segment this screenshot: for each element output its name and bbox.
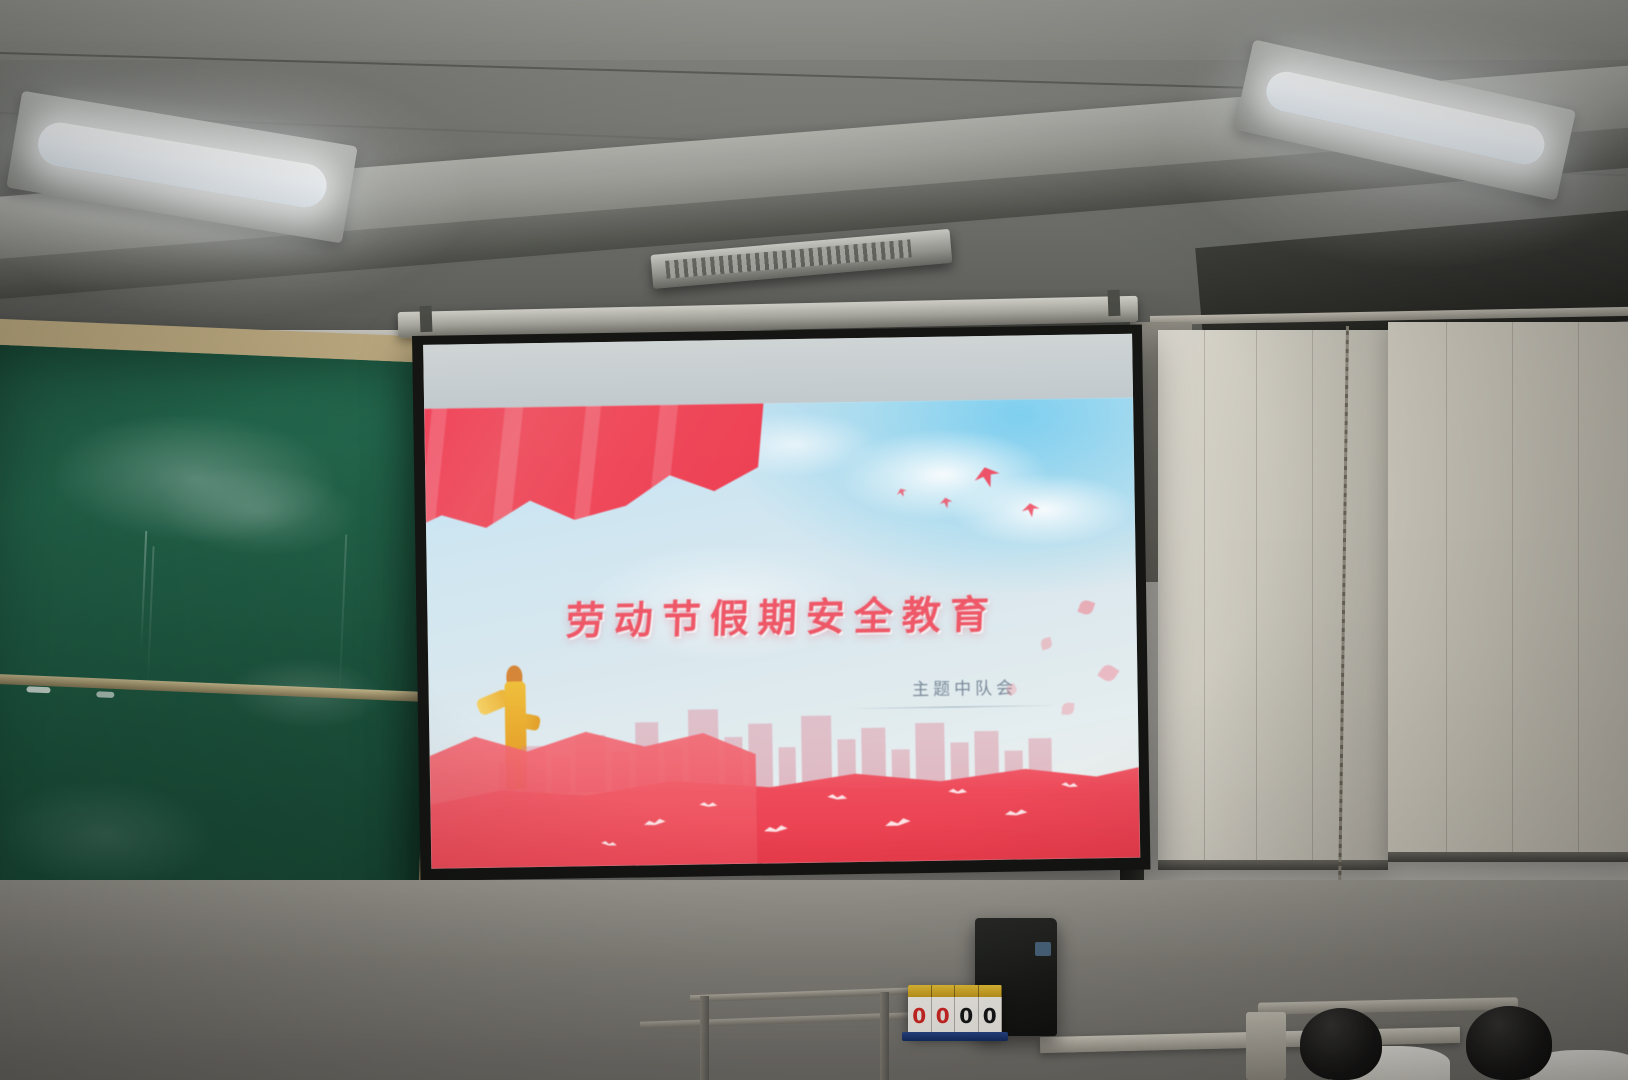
- desk-leg: [880, 992, 889, 1080]
- student-head-right: [1466, 1006, 1552, 1080]
- chalk-smudge: [156, 462, 360, 560]
- chalk-stick: [26, 686, 50, 693]
- classroom-scoreboard[interactable]: 0 0 0 0: [908, 985, 1002, 1035]
- flag-fold: [643, 398, 679, 563]
- curtain-fold: [1446, 322, 1447, 862]
- score-digit[interactable]: 0: [932, 997, 956, 1035]
- curtain-hem: [1388, 852, 1628, 862]
- score-digit[interactable]: 0: [979, 997, 1003, 1035]
- chalk-streak: [147, 546, 155, 686]
- case-label: [1035, 942, 1051, 956]
- slide-title: 劳动节假期安全教育: [426, 582, 1137, 649]
- score-header: [979, 985, 1003, 997]
- score-column: 0: [908, 985, 932, 1035]
- score-column: 0: [955, 985, 979, 1035]
- curtain-fold: [1204, 330, 1205, 870]
- presentation-slide: 劳动节假期安全教育 主题中队会: [424, 398, 1140, 869]
- score-digit[interactable]: 0: [955, 997, 979, 1035]
- score-header: [932, 985, 956, 997]
- score-digit[interactable]: 0: [908, 997, 932, 1035]
- chair-post: [1246, 1012, 1286, 1080]
- petal: [1097, 662, 1119, 684]
- ceiling-panel: [0, 0, 1628, 60]
- petal: [1040, 637, 1054, 651]
- screen-mount-right: [1108, 290, 1121, 316]
- chalk-streak: [338, 534, 347, 699]
- projection-screen[interactable]: 劳动节假期安全教育 主题中队会: [412, 325, 1150, 881]
- building: [915, 723, 946, 788]
- screen-mount-left: [420, 306, 433, 332]
- curtain-fold: [1312, 330, 1313, 870]
- screen-letterbox-top: [423, 334, 1133, 409]
- scoreboard-base: [902, 1032, 1008, 1041]
- desk-leg: [700, 996, 709, 1080]
- score-column: 0: [932, 985, 956, 1035]
- red-flag: [424, 398, 767, 566]
- flag-fold: [570, 398, 602, 564]
- building: [778, 747, 797, 790]
- curtain-fold: [1578, 322, 1579, 862]
- chalk-smudge: [47, 407, 342, 549]
- chalk-smudge: [0, 775, 217, 894]
- flag-fold: [489, 398, 525, 565]
- curtain-hem: [1158, 860, 1388, 870]
- score-column: 0: [979, 985, 1003, 1035]
- classroom-scene: 劳动节假期安全教育 主题中队会: [0, 0, 1628, 1080]
- curtain-fold: [1512, 322, 1513, 862]
- flag-fold: [424, 399, 447, 565]
- score-header: [955, 985, 979, 997]
- projection-screen-surface: 劳动节假期安全教育 主题中队会: [423, 334, 1140, 869]
- chalk-streak: [140, 531, 147, 651]
- chalk-stick: [96, 691, 114, 698]
- curtain-fold: [1256, 330, 1257, 870]
- curtain-left[interactable]: [1158, 330, 1388, 870]
- score-header: [908, 985, 932, 997]
- curtain-right[interactable]: [1388, 322, 1628, 862]
- student-head-left: [1300, 1008, 1382, 1080]
- chalkboard-surface: [0, 344, 441, 965]
